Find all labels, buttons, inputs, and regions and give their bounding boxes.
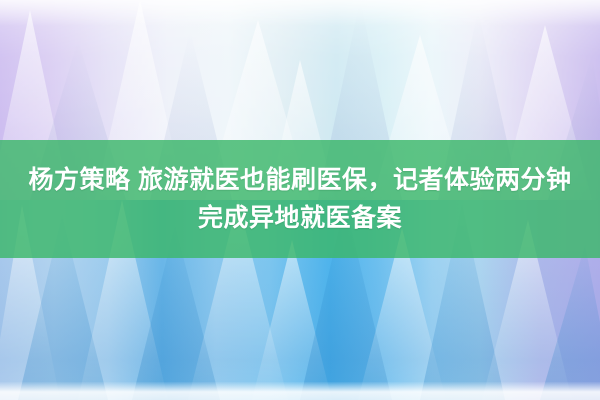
title-band: 杨方策略 旅游就医也能刷医保，记者体验两分钟 完成异地就医备案 xyxy=(0,140,600,258)
banner-image: 杨方策略 旅游就医也能刷医保，记者体验两分钟 完成异地就医备案 xyxy=(0,0,600,400)
title-line-1: 杨方策略 旅游就医也能刷医保，记者体验两分钟 xyxy=(29,161,572,199)
title-line-2: 完成异地就医备案 xyxy=(198,199,402,237)
bottom-highlight-band xyxy=(0,382,600,400)
top-highlight-band xyxy=(0,0,600,26)
